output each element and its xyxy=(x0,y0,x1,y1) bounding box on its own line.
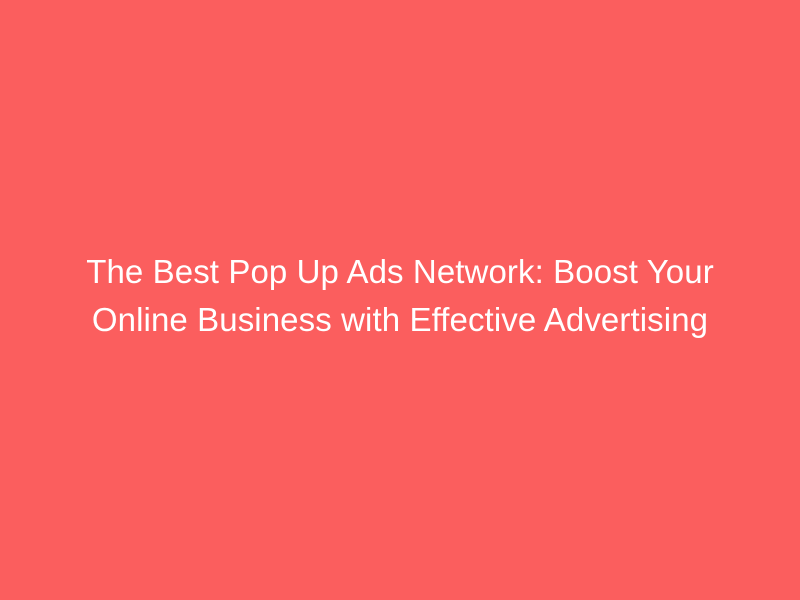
banner-card: The Best Pop Up Ads Network: Boost Your … xyxy=(0,0,800,600)
page-title: The Best Pop Up Ads Network: Boost Your … xyxy=(80,248,720,344)
headline-block: The Best Pop Up Ads Network: Boost Your … xyxy=(80,248,720,344)
